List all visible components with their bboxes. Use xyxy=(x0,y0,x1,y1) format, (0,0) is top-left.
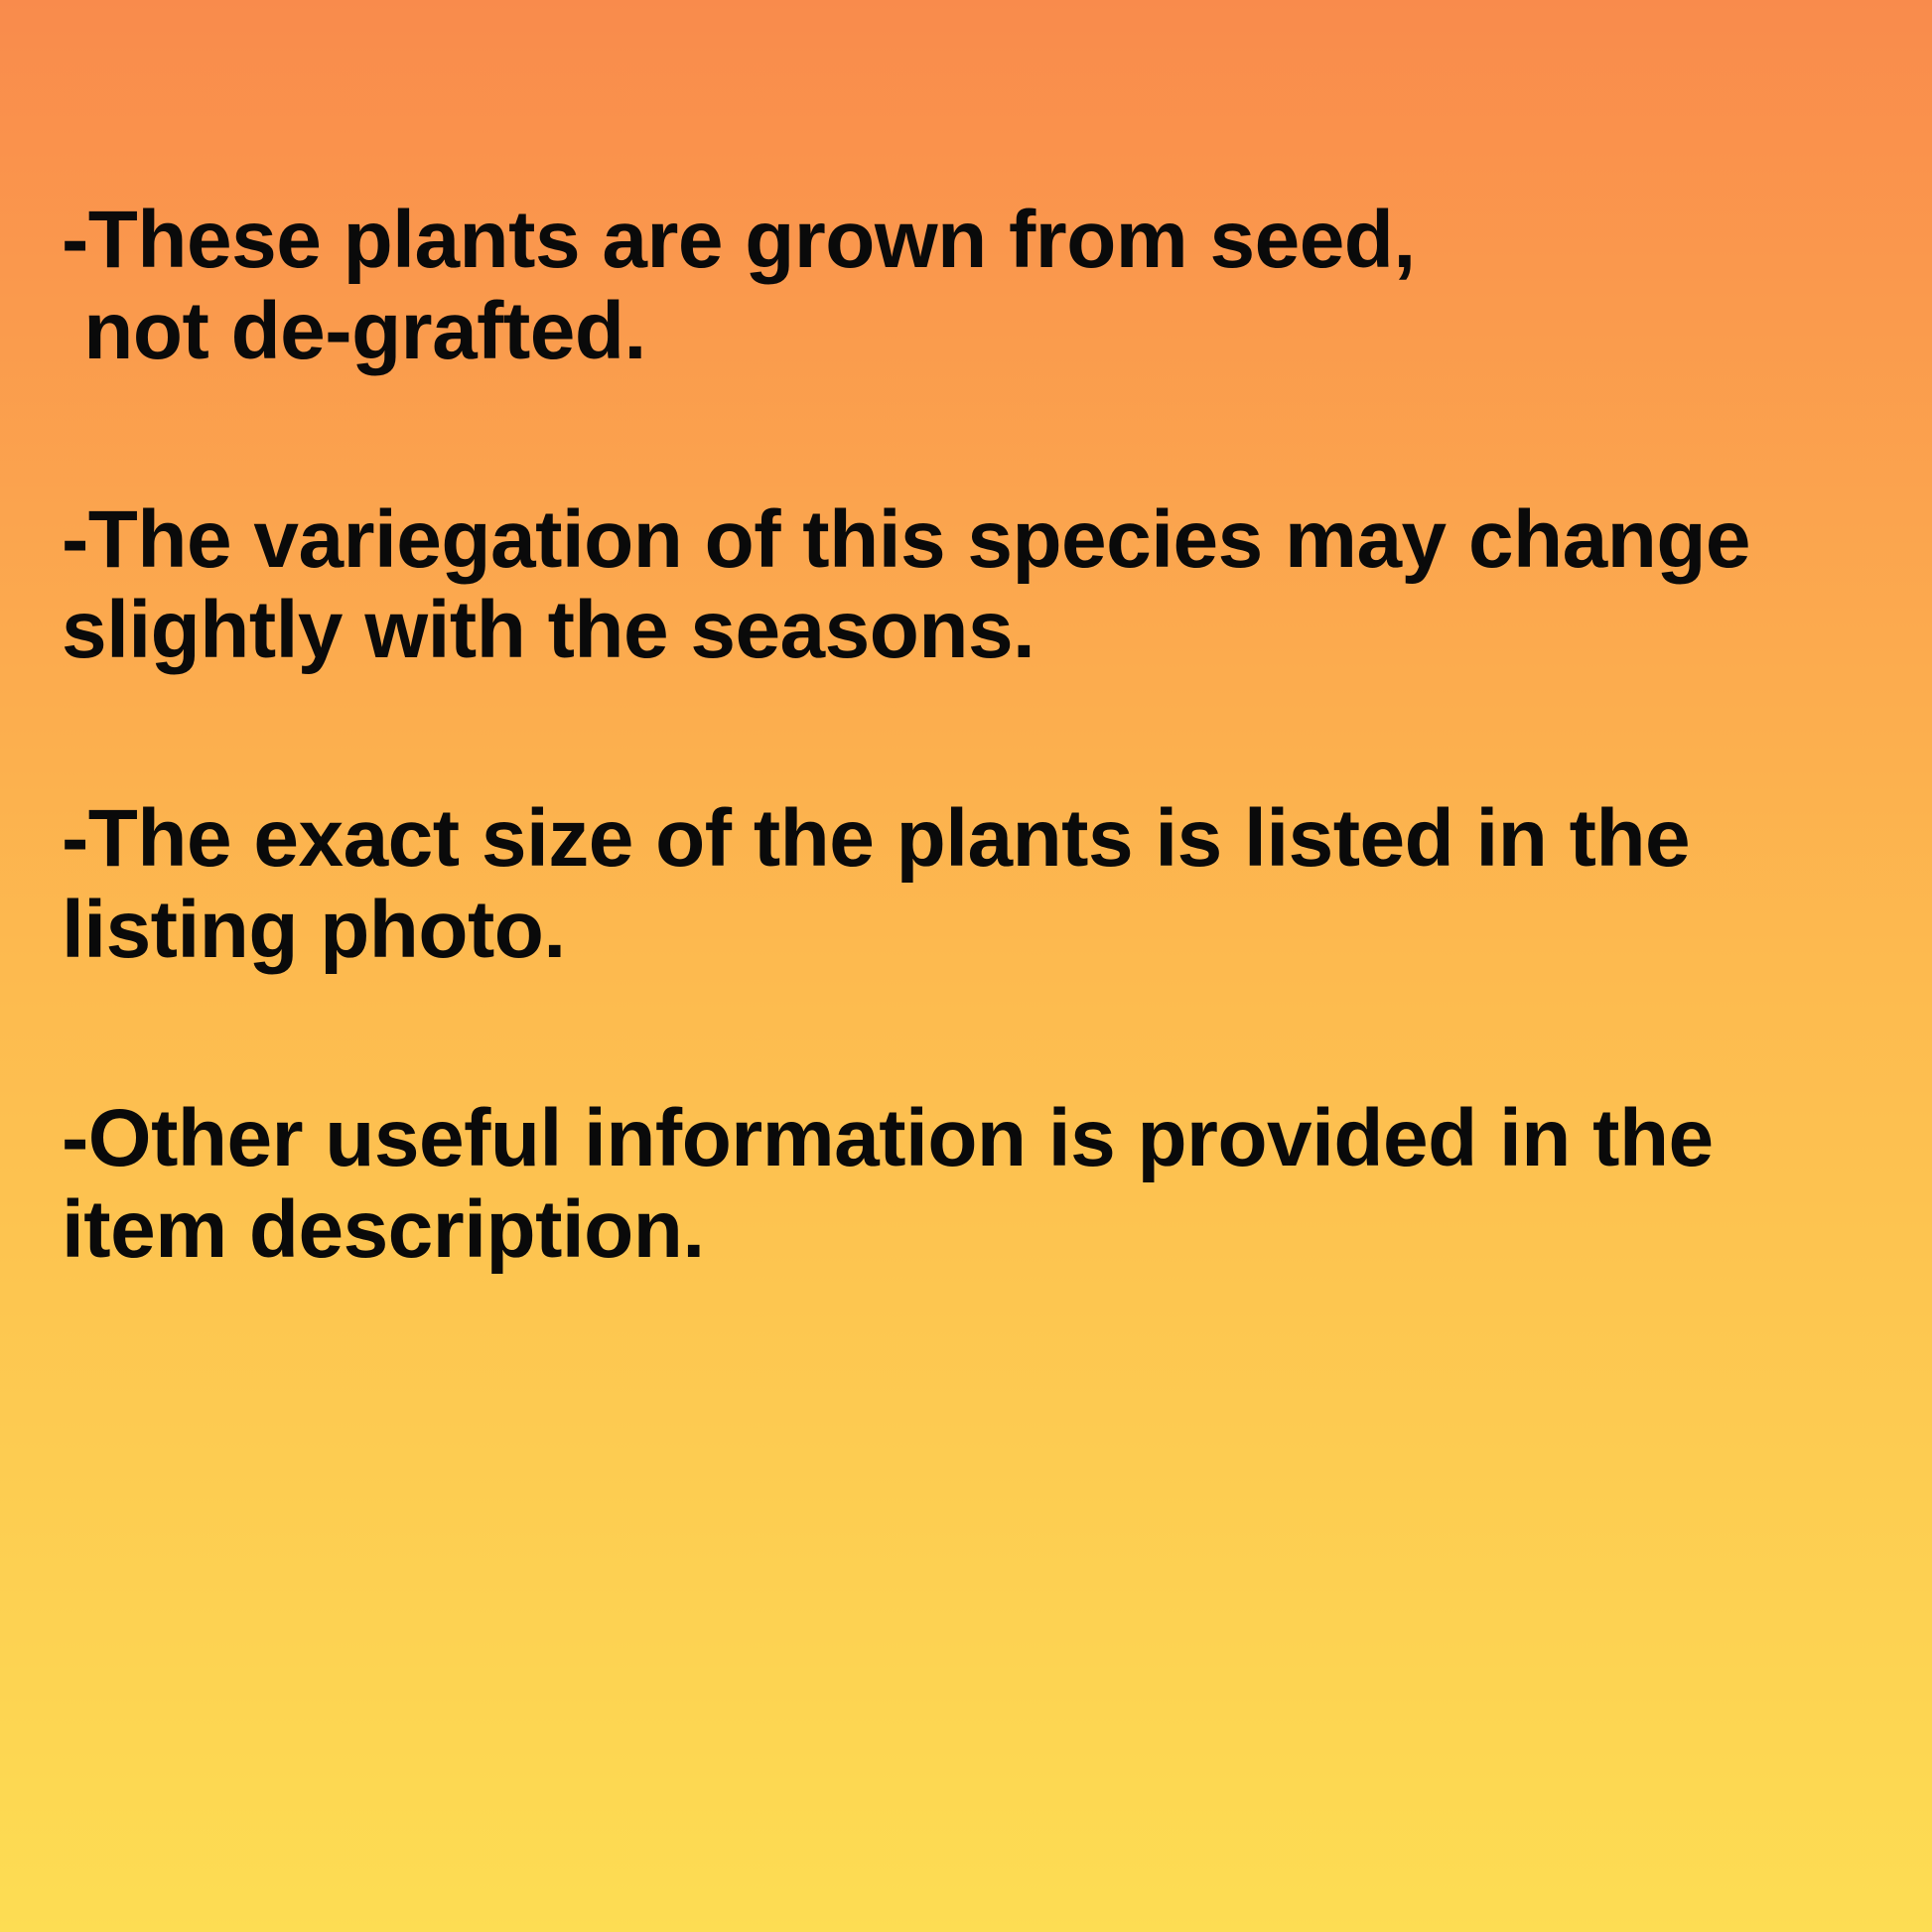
info-item-other-info: -Other useful information is provided in… xyxy=(62,1093,1868,1276)
info-item-exact-size: -The exact size of the plants is listed … xyxy=(62,793,1868,976)
info-item-variegation-changes: -The variegation of this species may cha… xyxy=(62,494,1868,677)
info-card: -These plants are grown from seed, not d… xyxy=(0,0,1932,1932)
info-bullet-list: -These plants are grown from seed, not d… xyxy=(62,195,1868,1276)
info-item-grown-from-seed: -These plants are grown from seed, not d… xyxy=(62,195,1868,377)
